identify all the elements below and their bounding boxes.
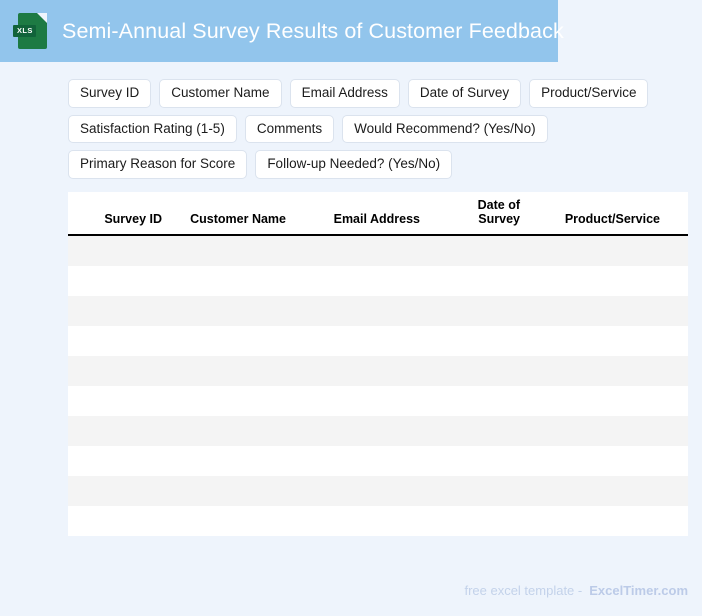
cell-ellipsis[interactable]: ...	[668, 386, 688, 416]
table-row[interactable]: ...	[68, 266, 688, 296]
data-table: Survey ID Customer Name Email Address Da…	[68, 192, 688, 536]
field-chip-would-recommend[interactable]: Would Recommend? (Yes/No)	[342, 115, 548, 144]
cell-ellipsis[interactable]: ...	[668, 296, 688, 326]
table-row[interactable]: ...	[68, 386, 688, 416]
cell-product-service[interactable]	[528, 296, 668, 326]
cell-email-address[interactable]	[294, 386, 428, 416]
cell-email-address[interactable]	[294, 296, 428, 326]
page-banner: XLS Semi-Annual Survey Results of Custom…	[0, 0, 558, 62]
field-chip-follow-up-needed[interactable]: Follow-up Needed? (Yes/No)	[255, 150, 452, 179]
cell-ellipsis[interactable]: ...	[668, 266, 688, 296]
cell-customer-name[interactable]	[170, 296, 294, 326]
cell-ellipsis[interactable]: ...	[668, 326, 688, 356]
cell-customer-name[interactable]	[170, 446, 294, 476]
cell-email-address[interactable]	[294, 506, 428, 536]
cell-customer-name[interactable]	[170, 326, 294, 356]
cell-ellipsis[interactable]: ...	[668, 446, 688, 476]
cell-survey-id[interactable]	[68, 266, 170, 296]
cell-survey-id[interactable]	[68, 235, 170, 266]
table-header-row: Survey ID Customer Name Email Address Da…	[68, 192, 688, 235]
field-chip-email-address[interactable]: Email Address	[290, 79, 400, 108]
cell-survey-id[interactable]	[68, 506, 170, 536]
cell-date-of-survey[interactable]	[428, 446, 528, 476]
field-chip-customer-name[interactable]: Customer Name	[159, 79, 281, 108]
table-row[interactable]: ...	[68, 326, 688, 356]
table-header: Survey ID Customer Name Email Address Da…	[68, 192, 688, 235]
column-header-customer-name[interactable]: Customer Name	[170, 192, 294, 235]
column-header-email-address[interactable]: Email Address	[294, 192, 428, 235]
field-chip-list: Survey ID Customer Name Email Address Da…	[68, 79, 668, 179]
table-row[interactable]: ...	[68, 416, 688, 446]
cell-email-address[interactable]	[294, 326, 428, 356]
table-row[interactable]: ...	[68, 476, 688, 506]
cell-ellipsis[interactable]: ...	[668, 476, 688, 506]
cell-date-of-survey[interactable]	[428, 506, 528, 536]
table-row[interactable]: ...	[68, 296, 688, 326]
cell-customer-name[interactable]	[170, 416, 294, 446]
cell-survey-id[interactable]	[68, 356, 170, 386]
cell-customer-name[interactable]	[170, 235, 294, 266]
cell-customer-name[interactable]	[170, 266, 294, 296]
footer-credit: free excel template -ExcelTimer.com	[464, 583, 688, 598]
cell-date-of-survey[interactable]	[428, 296, 528, 326]
column-header-survey-id[interactable]: Survey ID	[68, 192, 170, 235]
cell-date-of-survey[interactable]	[428, 476, 528, 506]
table-row[interactable]: ...	[68, 235, 688, 266]
cell-survey-id[interactable]	[68, 296, 170, 326]
field-chip-date-of-survey[interactable]: Date of Survey	[408, 79, 521, 108]
cell-customer-name[interactable]	[170, 476, 294, 506]
cell-product-service[interactable]	[528, 356, 668, 386]
footer-text: free excel template -	[464, 583, 582, 598]
table-body: ..............................	[68, 235, 688, 536]
field-chip-product-service[interactable]: Product/Service	[529, 79, 648, 108]
cell-date-of-survey[interactable]	[428, 235, 528, 266]
field-chip-primary-reason[interactable]: Primary Reason for Score	[68, 150, 247, 179]
cell-product-service[interactable]	[528, 476, 668, 506]
field-chip-survey-id[interactable]: Survey ID	[68, 79, 151, 108]
page-title: Semi-Annual Survey Results of Customer F…	[62, 19, 564, 44]
cell-product-service[interactable]	[528, 235, 668, 266]
cell-email-address[interactable]	[294, 266, 428, 296]
cell-ellipsis[interactable]: ...	[668, 506, 688, 536]
cell-ellipsis[interactable]: ...	[668, 356, 688, 386]
cell-date-of-survey[interactable]	[428, 356, 528, 386]
column-header-date-of-survey[interactable]: Date of Survey	[428, 192, 528, 235]
cell-product-service[interactable]	[528, 446, 668, 476]
xls-file-icon: XLS	[18, 13, 47, 49]
table-row[interactable]: ...	[68, 446, 688, 476]
cell-date-of-survey[interactable]	[428, 266, 528, 296]
cell-product-service[interactable]	[528, 416, 668, 446]
data-table-container: Survey ID Customer Name Email Address Da…	[68, 192, 688, 536]
cell-product-service[interactable]	[528, 506, 668, 536]
xls-icon-label: XLS	[13, 25, 36, 37]
cell-email-address[interactable]	[294, 356, 428, 386]
cell-email-address[interactable]	[294, 235, 428, 266]
cell-survey-id[interactable]	[68, 446, 170, 476]
field-chip-comments[interactable]: Comments	[245, 115, 334, 144]
table-row[interactable]: ...	[68, 506, 688, 536]
column-header-product-service[interactable]: Product/Service	[528, 192, 668, 235]
cell-customer-name[interactable]	[170, 506, 294, 536]
cell-customer-name[interactable]	[170, 356, 294, 386]
table-row[interactable]: ...	[68, 356, 688, 386]
xls-icon-fold	[37, 13, 47, 23]
footer-brand-link[interactable]: ExcelTimer.com	[589, 583, 688, 598]
cell-date-of-survey[interactable]	[428, 416, 528, 446]
cell-survey-id[interactable]	[68, 416, 170, 446]
cell-customer-name[interactable]	[170, 386, 294, 416]
cell-date-of-survey[interactable]	[428, 326, 528, 356]
cell-email-address[interactable]	[294, 446, 428, 476]
cell-email-address[interactable]	[294, 476, 428, 506]
cell-ellipsis[interactable]: ...	[668, 235, 688, 266]
column-header-ellipsis: ...	[668, 192, 688, 235]
cell-ellipsis[interactable]: ...	[668, 416, 688, 446]
cell-survey-id[interactable]	[68, 386, 170, 416]
cell-product-service[interactable]	[528, 386, 668, 416]
cell-survey-id[interactable]	[68, 476, 170, 506]
cell-product-service[interactable]	[528, 266, 668, 296]
cell-survey-id[interactable]	[68, 326, 170, 356]
field-chip-satisfaction-rating[interactable]: Satisfaction Rating (1-5)	[68, 115, 237, 144]
cell-product-service[interactable]	[528, 326, 668, 356]
cell-email-address[interactable]	[294, 416, 428, 446]
cell-date-of-survey[interactable]	[428, 386, 528, 416]
